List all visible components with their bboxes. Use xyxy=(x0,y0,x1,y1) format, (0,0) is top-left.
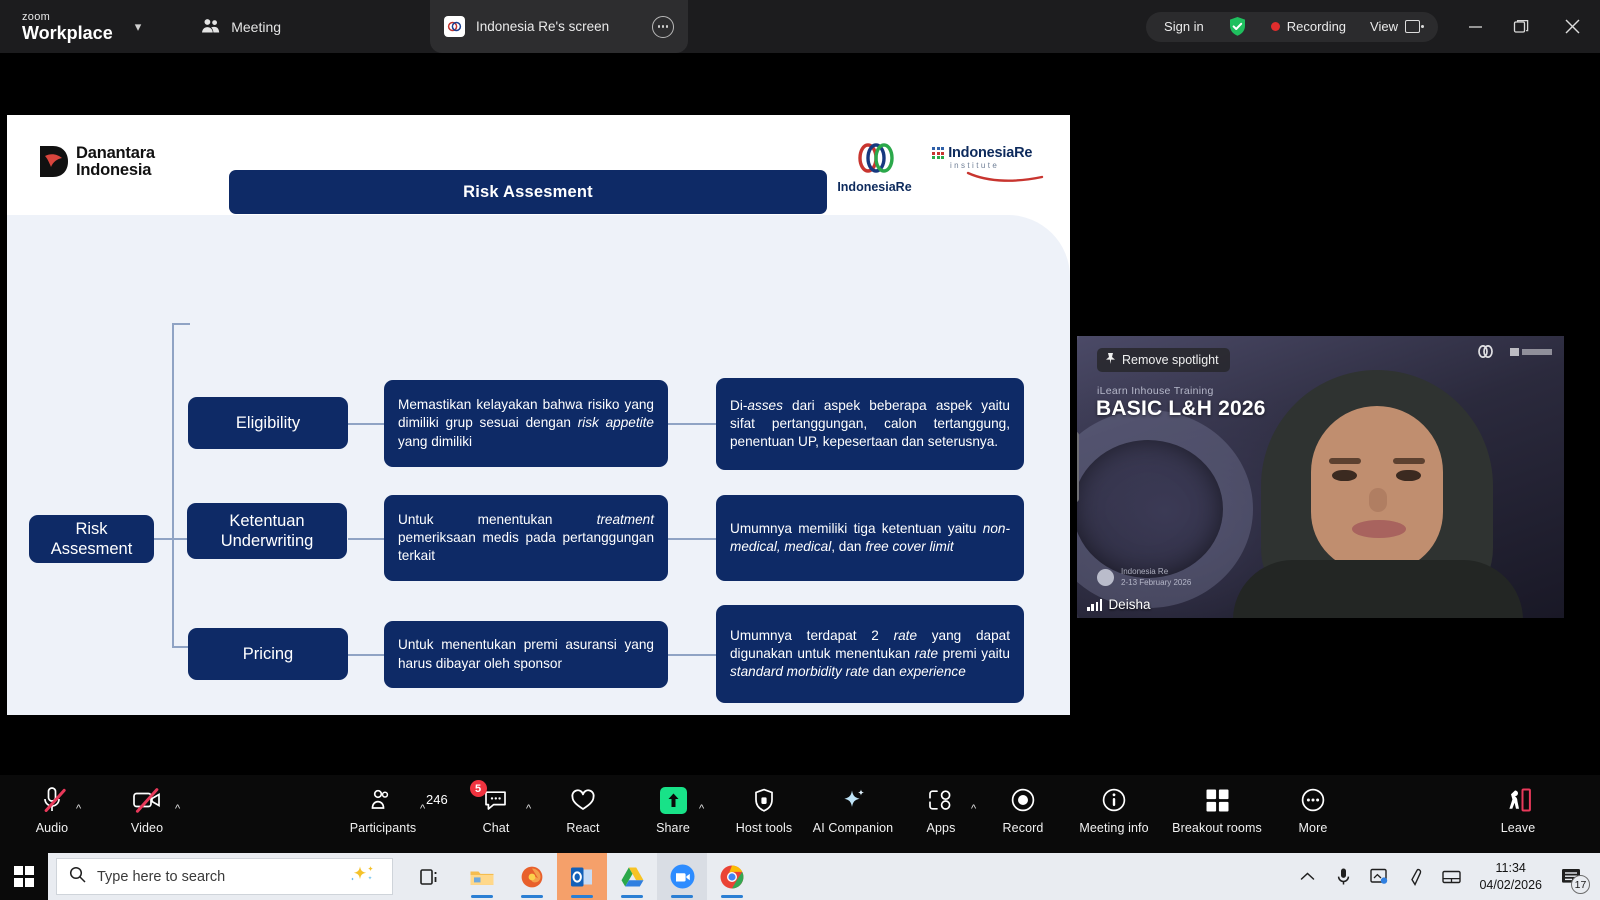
google-drive-icon[interactable] xyxy=(607,853,657,900)
host-tools-shield-icon xyxy=(753,783,775,817)
left-eye xyxy=(1332,470,1357,481)
copilot-sparkle-icon[interactable] xyxy=(346,864,380,889)
participant-name: Deisha xyxy=(1108,597,1150,612)
react-heart-icon xyxy=(570,783,596,817)
danantara-wordmark: Danantara Indonesia xyxy=(76,145,155,179)
windows-logo-icon xyxy=(14,866,35,887)
minimize-icon[interactable] xyxy=(1452,0,1498,53)
video-caret-icon[interactable]: ^ xyxy=(175,803,180,815)
thumbnail-drag-handle[interactable] xyxy=(1077,432,1079,502)
screenshot-icon[interactable] xyxy=(1361,853,1397,900)
start-button[interactable] xyxy=(0,853,48,900)
encryption-shield-icon[interactable] xyxy=(1216,12,1259,42)
toolbar-ai-companion-button[interactable]: AI Companion xyxy=(805,783,901,835)
view-button[interactable]: View xyxy=(1358,12,1432,42)
microphone-icon[interactable] xyxy=(1325,853,1361,900)
background-kicker-text: iLearn Inhouse Training xyxy=(1097,385,1214,397)
app-active-underline xyxy=(721,895,743,898)
firefox-icon[interactable] xyxy=(507,853,557,900)
background-footer-text: Indonesia Re 2-13 February 2026 xyxy=(1121,567,1191,588)
apps-icon xyxy=(928,783,954,817)
participants-icon: 246 xyxy=(370,783,396,817)
diagram-detail-underwriting[interactable]: Umumnya memiliki tiga ketentuan yaitu no… xyxy=(716,495,1024,581)
app-active-underline xyxy=(671,895,693,898)
institute-wordmark: IndonesiaRe xyxy=(948,145,1032,161)
zoom-wordmark: zoom xyxy=(22,12,113,23)
background-title-text: BASIC L&H 2026 xyxy=(1096,397,1266,421)
more-options-icon[interactable] xyxy=(652,16,674,38)
connector-l3-m3 xyxy=(348,654,386,656)
toolbar-more-button[interactable]: More xyxy=(1265,783,1361,835)
signal-bars-icon xyxy=(1087,599,1102,611)
connector-m1-r1 xyxy=(668,423,716,425)
diagram-node-pricing[interactable]: Pricing xyxy=(188,628,348,680)
participant-video-thumbnail[interactable]: Remove spotlight iLearn Inhouse Training… xyxy=(1077,336,1564,618)
close-icon[interactable] xyxy=(1544,0,1600,53)
record-label: Record xyxy=(1003,821,1044,835)
notification-center-button[interactable]: 17 xyxy=(1552,853,1592,900)
toolbar-host-tools-button[interactable]: Host tools xyxy=(716,783,812,835)
indonesia-re-logo: IndonesiaRe xyxy=(827,143,922,194)
pricing-desc-text: Untuk menentukan premi asuransi yang har… xyxy=(398,636,654,672)
eligibility-desc-text: Memastikan kelayakan bahwa risiko yang d… xyxy=(398,396,654,450)
chat-icon: 5 xyxy=(484,783,509,817)
touchpad-icon[interactable] xyxy=(1433,853,1469,900)
zoom-icon[interactable] xyxy=(657,853,707,900)
toolbar-share-button[interactable]: Share ^ xyxy=(625,783,721,835)
diagram-node-root[interactable]: Risk Assesment xyxy=(29,515,154,563)
dot-grid-icon xyxy=(932,147,944,159)
diagram-desc-underwriting[interactable]: Untuk menentukan treatment pemeriksaan m… xyxy=(384,495,668,581)
app-active-underline xyxy=(571,895,593,898)
app-active-underline xyxy=(521,895,543,898)
camera-muted-icon xyxy=(133,783,161,817)
face-shape xyxy=(1311,406,1443,572)
leave-door-icon xyxy=(1504,783,1532,817)
background-footer: Indonesia Re 2-13 February 2026 xyxy=(1097,567,1191,588)
clock-time: 11:34 xyxy=(1479,860,1542,877)
meeting-stage: Danantara Indonesia Risk Assesment Indon… xyxy=(0,53,1600,853)
root-line1: Risk xyxy=(75,520,107,538)
zoom-workplace-logo: zoom Workplace xyxy=(0,12,113,42)
diagram-desc-eligibility[interactable]: Memastikan kelayakan bahwa risiko yang d… xyxy=(384,380,668,467)
workplace-wordmark: Workplace xyxy=(22,24,113,42)
search-placeholder: Type here to search xyxy=(97,869,335,885)
pen-icon[interactable] xyxy=(1397,853,1433,900)
diagram-node-ketentuan-underwriting[interactable]: Ketentuan Underwriting xyxy=(187,503,347,559)
tab-shared-screen[interactable]: Indonesia Re's screen xyxy=(430,0,688,53)
eligibility-label: Eligibility xyxy=(236,413,300,433)
danantara-line1: Danantara xyxy=(76,144,155,162)
leave-label: Leave xyxy=(1501,821,1536,835)
institute-swoosh-icon xyxy=(966,171,1044,183)
right-eye xyxy=(1396,470,1421,481)
connector-root-stub xyxy=(154,538,174,540)
slide-title-banner: Risk Assesment xyxy=(229,170,827,214)
pricing-detail-text: Umumnya terdapat 2 rate yang dapat digun… xyxy=(730,627,1010,681)
remove-spotlight-label: Remove spotlight xyxy=(1122,353,1219,367)
info-icon xyxy=(1101,783,1127,817)
ai-companion-label: AI Companion xyxy=(813,821,893,835)
app-active-underline xyxy=(471,895,493,898)
nose-shape xyxy=(1369,488,1387,512)
background-avatar xyxy=(1097,569,1114,586)
indonesia-re-institute-logo: IndonesiaRe institute xyxy=(932,145,1057,188)
microphone-muted-icon xyxy=(41,783,63,817)
participant-avatar-video xyxy=(1227,366,1527,618)
diagram-detail-eligibility[interactable]: Di-asses dari aspek beberapa aspek yaitu… xyxy=(716,378,1024,470)
ketentuan-label: Ketentuan Underwriting xyxy=(221,511,314,551)
toolbar-react-button[interactable]: React xyxy=(535,783,631,835)
diagram-node-eligibility[interactable]: Eligibility xyxy=(188,397,348,449)
connector-l1-m1 xyxy=(348,423,386,425)
ketentuan-line1: Ketentuan xyxy=(229,512,304,530)
search-icon xyxy=(69,866,86,888)
share-caret-icon[interactable]: ^ xyxy=(699,803,704,815)
chevron-down-icon[interactable]: ▾ xyxy=(135,19,142,35)
connector-root-trunk xyxy=(172,323,174,647)
connector-branch-1 xyxy=(172,323,190,325)
indonesia-re-wordmark: IndonesiaRe xyxy=(827,180,922,194)
video-label: Video xyxy=(131,821,163,835)
pin-icon xyxy=(1105,352,1116,368)
toolbar-breakout-rooms-button[interactable]: Breakout rooms xyxy=(1169,783,1265,835)
title-bar: zoom Workplace ▾ Meeting Indonesia Re's … xyxy=(0,0,1600,53)
remove-spotlight-button[interactable]: Remove spotlight xyxy=(1097,348,1230,372)
sign-in-button[interactable]: Sign in xyxy=(1152,12,1216,42)
danantara-line2: Indonesia xyxy=(76,161,151,179)
share-screen-icon xyxy=(660,783,687,817)
connector-m2-r2 xyxy=(668,538,716,540)
participants-label: Participants xyxy=(350,821,417,835)
people-icon xyxy=(201,18,221,36)
more-ellipsis-icon xyxy=(1300,783,1326,817)
bg-footer-line1: Indonesia Re xyxy=(1121,567,1168,576)
indonesia-re-mark-icon xyxy=(1474,345,1500,358)
presentation-slide: Danantara Indonesia Risk Assesment Indon… xyxy=(7,115,1070,715)
participants-caret-icon[interactable]: ^ xyxy=(420,803,425,815)
tab-shared-screen-label: Indonesia Re's screen xyxy=(476,19,641,34)
react-label: React xyxy=(566,821,599,835)
clock-date: 04/02/2026 xyxy=(1479,877,1542,894)
more-label: More xyxy=(1299,821,1328,835)
ai-sparkle-icon xyxy=(840,783,866,817)
toolbar-meeting-info-button[interactable]: Meeting info xyxy=(1066,783,1162,835)
ketentuan-line2: Underwriting xyxy=(221,532,314,550)
audio-label: Audio xyxy=(36,821,68,835)
titlebar-status-group: Sign in Recording View xyxy=(1146,12,1438,42)
task-view-icon[interactable] xyxy=(407,853,457,900)
slide-diagram-area: Risk Assesment Eligibility Memastikan ke… xyxy=(7,215,1070,715)
eligibility-detail-text: Di-asses dari aspek beberapa aspek yaitu… xyxy=(730,397,1010,451)
zoom-app-window: zoom Workplace ▾ Meeting Indonesia Re's … xyxy=(0,0,1600,853)
meeting-toolbar: Audio ^ Video ^ 246 Participants ^ 5 xyxy=(0,775,1600,853)
root-node-label: Risk Assesment xyxy=(51,519,133,559)
search-input[interactable]: Type here to search xyxy=(56,858,393,895)
chat-label: Chat xyxy=(483,821,510,835)
tab-meeting[interactable]: Meeting xyxy=(183,0,299,53)
underwriting-desc-text: Untuk menentukan treatment pemeriksaan m… xyxy=(398,511,654,565)
toolbar-record-button[interactable]: Record xyxy=(975,783,1071,835)
page-title: Risk Assesment xyxy=(463,183,593,202)
sign-in-label: Sign in xyxy=(1164,19,1204,34)
file-explorer-icon[interactable] xyxy=(457,853,507,900)
toolbar-leave-button[interactable]: Leave xyxy=(1470,783,1566,835)
toolbar-video-button[interactable]: Video ^ xyxy=(99,783,195,835)
clock[interactable]: 11:34 04/02/2026 xyxy=(1469,860,1552,894)
record-icon xyxy=(1010,783,1036,817)
apps-label: Apps xyxy=(927,821,956,835)
breakout-rooms-label: Breakout rooms xyxy=(1172,821,1262,835)
view-label: View xyxy=(1370,19,1398,34)
connector-m3-r3 xyxy=(668,654,716,656)
toolbar-audio-button[interactable]: Audio ^ xyxy=(4,783,100,835)
chat-unread-badge: 5 xyxy=(470,780,487,797)
underwriting-detail-text: Umumnya memiliki tiga ketentuan yaitu no… xyxy=(730,520,1010,556)
diagram-detail-pricing[interactable]: Umumnya terdapat 2 rate yang dapat digun… xyxy=(716,605,1024,703)
left-brow xyxy=(1329,458,1361,464)
system-tray: 11:34 04/02/2026 17 xyxy=(1289,853,1600,900)
share-label: Share xyxy=(656,821,690,835)
slide-header: Danantara Indonesia Risk Assesment Indon… xyxy=(7,115,1070,215)
notification-count-badge: 17 xyxy=(1571,875,1590,894)
meeting-info-label: Meeting info xyxy=(1079,821,1148,835)
diagram-desc-pricing[interactable]: Untuk menentukan premi asuransi yang har… xyxy=(384,621,668,688)
participant-name-chip: Deisha xyxy=(1087,597,1150,612)
toolbar-chat-button[interactable]: 5 Chat ^ xyxy=(448,783,544,835)
outlook-icon[interactable] xyxy=(557,853,607,900)
background-logos xyxy=(1474,345,1554,358)
participants-count: 246 xyxy=(426,792,448,807)
windows-taskbar: Type here to search xyxy=(0,853,1600,900)
right-brow xyxy=(1393,458,1425,464)
audio-caret-icon[interactable]: ^ xyxy=(76,803,81,815)
institute-logo-icon xyxy=(1510,346,1554,358)
connector-l2-m2 xyxy=(348,538,386,540)
tab-meeting-label: Meeting xyxy=(231,19,281,35)
restore-icon[interactable] xyxy=(1498,0,1544,53)
show-hidden-icons-icon[interactable] xyxy=(1289,853,1325,900)
record-dot-icon xyxy=(1271,22,1280,31)
mouth-shape xyxy=(1352,520,1406,538)
shoulders-shape xyxy=(1233,560,1523,618)
danantara-mark-icon xyxy=(39,145,69,178)
recording-label: Recording xyxy=(1287,19,1346,34)
toolbar-participants-button[interactable]: 246 Participants ^ xyxy=(335,783,431,835)
institute-subtitle: institute xyxy=(950,161,1057,170)
bg-footer-line2: 2-13 February 2026 xyxy=(1121,578,1191,587)
view-layout-icon xyxy=(1405,20,1420,33)
root-line2: Assesment xyxy=(51,540,133,558)
danantara-logo: Danantara Indonesia xyxy=(39,145,155,179)
breakout-rooms-icon xyxy=(1205,783,1230,817)
chrome-icon[interactable] xyxy=(707,853,757,900)
indonesia-re-mark-icon xyxy=(846,143,904,173)
host-tools-label: Host tools xyxy=(736,821,793,835)
recording-indicator[interactable]: Recording xyxy=(1259,12,1358,42)
chat-caret-icon[interactable]: ^ xyxy=(526,803,531,815)
app-active-underline xyxy=(621,895,643,898)
shared-screen-frame[interactable]: Danantara Indonesia Risk Assesment Indon… xyxy=(7,89,1070,804)
pricing-label: Pricing xyxy=(243,644,293,664)
indonesia-re-icon xyxy=(444,16,465,37)
